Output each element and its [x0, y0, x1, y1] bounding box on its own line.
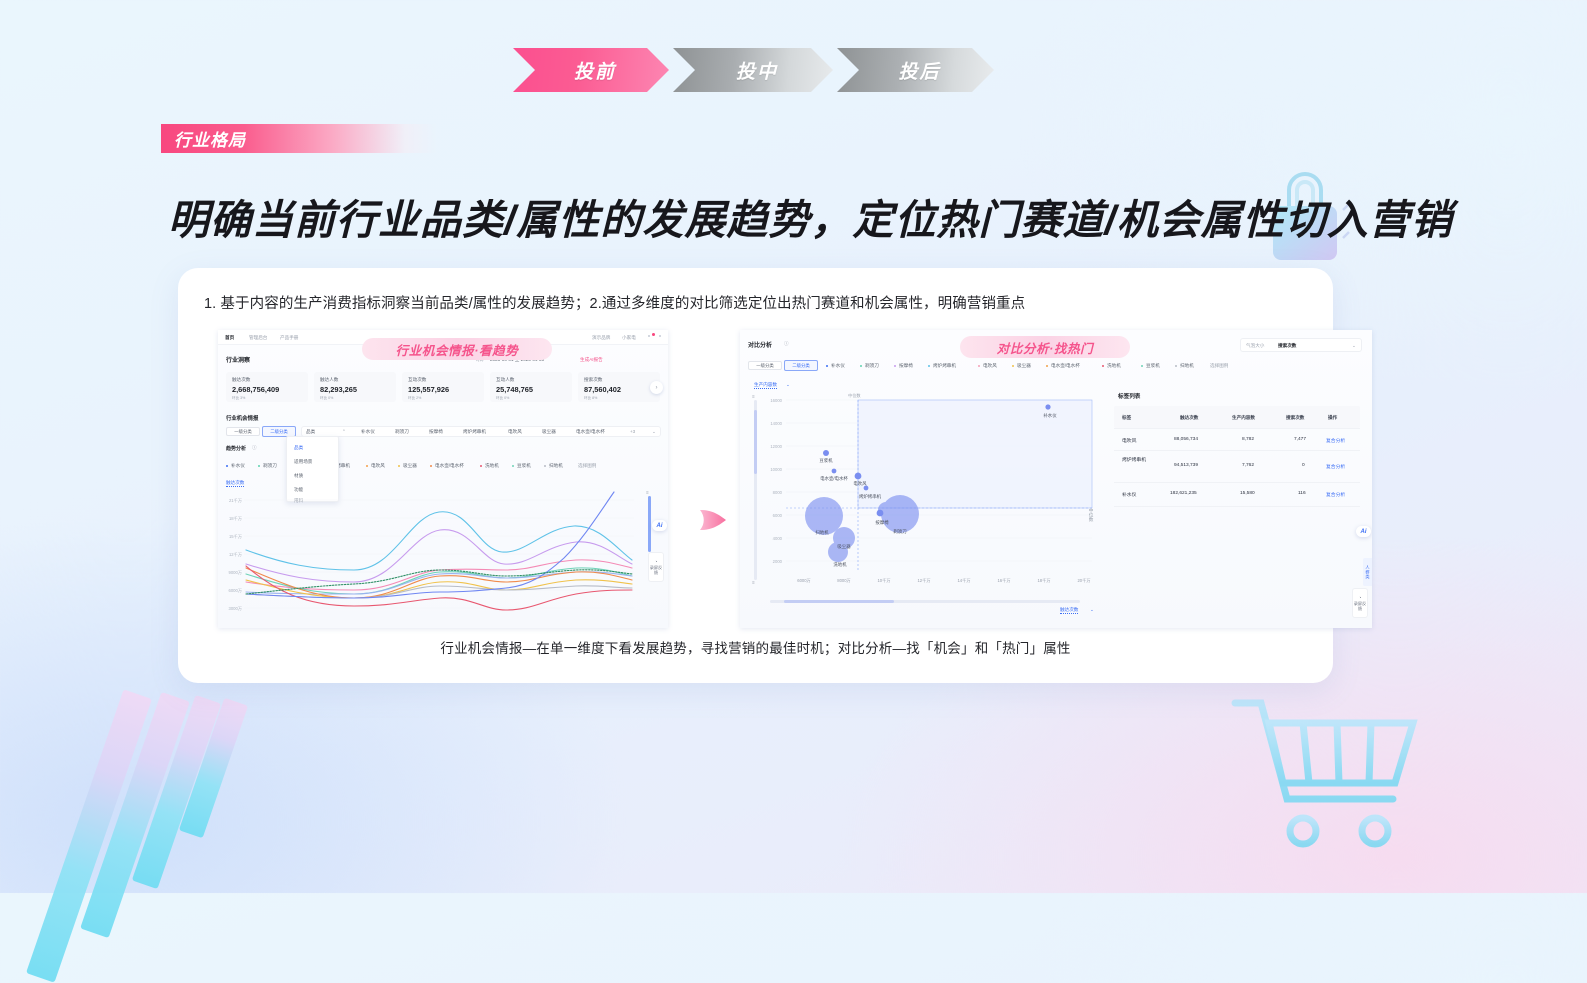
table-header-cell: 搜索次数 — [1286, 415, 1304, 421]
metric-value: 82,293,265 — [320, 385, 357, 394]
tag-chip[interactable]: 剃须刀 — [395, 429, 409, 435]
legend-label[interactable]: 电水壶/电水杯 — [435, 463, 464, 469]
side-button-label: 录屏反馈 — [1353, 601, 1367, 612]
legend-label[interactable]: 剃须刀 — [263, 463, 277, 469]
metric-delta: 环比 2% — [408, 396, 421, 401]
legend-select-button[interactable]: 选择图例 — [578, 463, 596, 469]
cell-tag: 烤炉烤串机 — [1122, 458, 1146, 464]
cell-tag: 电吹风 — [1122, 437, 1136, 444]
metric-label: 触达次数 — [232, 377, 250, 383]
svg-text:豆浆机: 豆浆机 — [819, 457, 833, 464]
stage-breadcrumb: 投前 投中 投后 — [513, 48, 994, 92]
step-label: 投前 — [540, 57, 642, 84]
tag-chip[interactable]: 电吹风 — [508, 429, 522, 435]
trend-line-chart — [244, 490, 634, 625]
notification-badge — [652, 333, 655, 336]
chevron-down-icon[interactable]: ⌄ — [786, 382, 790, 388]
ribbon-right: 对比分析·找热门 — [960, 336, 1130, 358]
screen-record-feedback-button[interactable]: ◔ 录屏反馈 — [1352, 588, 1368, 618]
metric-delta: 环比 3% — [232, 396, 245, 401]
legend-label[interactable]: 吸尘器 — [1017, 363, 1031, 369]
generate-report-button[interactable]: 生成AI报告 — [580, 357, 603, 363]
table-header-cell: 标签 — [1122, 415, 1131, 421]
svg-text:补水仪: 补水仪 — [1043, 412, 1057, 419]
legend-label[interactable]: 扫地机 — [549, 463, 563, 469]
y-tick-label: 3000万 — [220, 606, 242, 612]
cell-content: 15,580 — [1240, 491, 1255, 496]
svg-text:剃须刀: 剃须刀 — [893, 528, 906, 535]
screenshot-industry-trend: 首页 管理后台 产品手册 演示品牌 小家电 行业洞察 时间: 2025-04-0… — [218, 330, 668, 628]
audience-category-tab[interactable]: 人群类 — [1363, 558, 1372, 586]
metric-select[interactable]: 触达次数 — [226, 480, 244, 487]
legend-label[interactable]: 烤炉烤串机 — [933, 363, 956, 369]
svg-text:18千万: 18千万 — [1037, 577, 1050, 584]
median-label-vertical: 中位数 — [1088, 508, 1094, 522]
svg-text:16000: 16000 — [770, 398, 782, 403]
tag-table: 标签 触达次数 生产内容数 搜索次数 操作 电吹风 88,056,734 8,7… — [1114, 406, 1360, 526]
decorative-bars — [62, 686, 292, 866]
clock-icon: ◔ — [655, 559, 658, 564]
table-title: 标签列表 — [1118, 392, 1140, 400]
step-label: 投中 — [702, 57, 804, 84]
svg-text:洗地机: 洗地机 — [833, 561, 847, 568]
tag-overflow-count[interactable]: +3 — [630, 429, 635, 434]
info-icon[interactable]: ⓘ — [252, 445, 257, 451]
y-tick-label: 12千万 — [220, 552, 242, 558]
metric-label: 搜索次数 — [584, 377, 602, 383]
legend-label[interactable]: 电吹风 — [371, 463, 385, 469]
svg-text:14千万: 14千万 — [957, 577, 970, 584]
legend-label[interactable]: 补水仪 — [231, 463, 245, 469]
chart-horizontal-scroll-thumb[interactable] — [784, 600, 894, 603]
legend-label[interactable]: 洗地机 — [1107, 363, 1121, 369]
svg-text:12千万: 12千万 — [917, 577, 930, 584]
block-title: 行业机会情报 — [226, 414, 258, 422]
cell-reach: 182,621,235 — [1170, 491, 1197, 496]
metrics-next-button[interactable]: › — [650, 381, 663, 394]
clock-icon: ◔ — [1359, 595, 1362, 600]
chart-vertical-scroll-thumb[interactable] — [754, 410, 757, 474]
metric-label: 互动次数 — [408, 377, 426, 383]
lede-text: 1. 基于内容的生产消费指标洞察当前品类/属性的发展趋势；2.通过多维度的对比筛… — [204, 292, 1025, 313]
legend-select-button[interactable]: 选择图例 — [1210, 363, 1228, 369]
account-brand[interactable]: 演示品牌 — [592, 335, 610, 341]
table-header-cell: 触达次数 — [1180, 415, 1198, 421]
metric-value: 125,557,926 — [408, 385, 449, 394]
svg-text:16千万: 16千万 — [997, 577, 1010, 584]
cell-action-link[interactable]: 复合分析 — [1326, 491, 1345, 498]
ribbon-right-label: 对比分析·找热门 — [997, 338, 1093, 357]
chevron-up-icon[interactable]: ⌃ — [342, 429, 346, 435]
bubble-size-value: 搜索次数 — [1278, 343, 1296, 349]
shopping-cart-icon — [1217, 679, 1427, 859]
nav-item-admin[interactable]: 管理后台 — [249, 335, 267, 341]
tag-chip[interactable]: 补水仪 — [361, 429, 375, 435]
table-header-cell: 操作 — [1328, 415, 1337, 421]
tag-chip[interactable]: 按摩椅 — [429, 429, 443, 435]
metric-delta: 环比 0% — [496, 396, 509, 401]
section-tag: 行业格局 — [161, 124, 438, 153]
svg-text:12000: 12000 — [770, 444, 782, 449]
legend-label[interactable]: 按摩椅 — [899, 363, 913, 369]
legend-label[interactable]: 洗地机 — [485, 463, 499, 469]
cell-reach: 88,056,734 — [1174, 437, 1198, 442]
ribbon-left: 行业机会情报·看趋势 — [362, 338, 552, 360]
legend-label[interactable]: 剃须刀 — [865, 363, 879, 369]
vertical-scrollbar[interactable] — [648, 496, 651, 552]
y-tick-label: 18千万 — [220, 516, 242, 522]
svg-text:14000: 14000 — [770, 421, 782, 426]
cell-action-link[interactable]: 复合分析 — [1326, 463, 1345, 470]
bubble-scatter-chart: 补水仪 豆浆机 电水壶/电水杯 电吹风 烤炉烤串机 按摩椅 剃须刀 扫地机 吸尘… — [748, 390, 1096, 600]
y-tick-label: 6000万 — [220, 588, 242, 594]
metric-label: 互动人数 — [496, 377, 514, 383]
legend-label[interactable]: 扫地机 — [1180, 363, 1194, 369]
dropdown-item-material[interactable]: 材质 — [294, 473, 303, 479]
svg-text:吸尘器: 吸尘器 — [837, 543, 851, 550]
nav-item-home[interactable]: 首页 — [225, 335, 234, 341]
screen-record-feedback-button[interactable]: ◔ 录屏反馈 — [648, 552, 664, 582]
step-mid-campaign[interactable]: 投中 — [673, 48, 833, 92]
nav-item-manual[interactable]: 产品手册 — [280, 335, 298, 341]
svg-text:2000: 2000 — [773, 559, 783, 564]
panel-title: 对比分析 — [748, 340, 772, 349]
x-axis-select[interactable]: 触达次数 — [1060, 607, 1078, 614]
tag-chip[interactable]: 烤炉烤串机 — [463, 429, 486, 435]
svg-text:扫地机: 扫地机 — [815, 529, 829, 536]
metric-label: 触达人数 — [320, 377, 338, 383]
svg-text:10000: 10000 — [770, 467, 782, 472]
ai-assistant-badge[interactable]: Ai — [1356, 526, 1371, 537]
svg-text:20千万: 20千万 — [1077, 577, 1090, 584]
drag-handle-icon[interactable]: ≡ — [752, 580, 755, 585]
svg-text:烤炉烤串机: 烤炉烤串机 — [859, 493, 882, 500]
svg-text:中位数: 中位数 — [848, 392, 861, 399]
dimension-select-value[interactable]: 品类 — [306, 429, 315, 435]
page-title: 明确当前行业品类/属性的发展趋势，定位热门赛道/机会属性切入营销 — [168, 192, 1458, 248]
legend-label[interactable]: 补水仪 — [831, 363, 845, 369]
section-tag-label: 行业格局 — [161, 126, 246, 151]
arrow-right-icon — [692, 498, 736, 542]
screenshot-comparison-analysis: 对比分析 ⓘ 气泡大小 搜索次数 ⌄ 一级分类 二级分类 补水仪 剃须刀 按摩椅… — [740, 330, 1372, 628]
tag-chip[interactable]: 吸尘器 — [542, 429, 556, 435]
svg-text:按摩椅: 按摩椅 — [875, 519, 889, 526]
svg-text:4000: 4000 — [773, 536, 783, 541]
tab-level2[interactable]: 二级分类 — [784, 360, 818, 371]
legend-label[interactable]: 豆浆机 — [1146, 363, 1160, 369]
metric-delta: 环比 0% — [320, 396, 333, 401]
dropdown-item-category[interactable]: 品类 — [294, 445, 303, 451]
step-post-campaign[interactable]: 投后 — [837, 48, 994, 92]
y-tick-label: 21千万 — [220, 498, 242, 504]
svg-text:电水壶/电水杯: 电水壶/电水杯 — [820, 475, 848, 482]
metric-value: 2,668,756,409 — [232, 385, 279, 394]
legend-label[interactable]: 电水壶/电水杯 — [1051, 363, 1080, 369]
figure-caption: 行业机会情报—在单一维度下看发展趋势，寻找营销的最佳时机；对比分析—找「机会」和… — [178, 637, 1333, 657]
cell-content: 7,762 — [1242, 463, 1254, 468]
dropdown-item-scene[interactable]: 适用场景 — [294, 459, 312, 465]
svg-text:电吹风: 电吹风 — [853, 480, 867, 487]
table-header-cell: 生产内容数 — [1232, 415, 1255, 421]
chevron-down-icon[interactable]: ⌄ — [1090, 607, 1094, 613]
page-heading: 行业洞察 — [226, 355, 250, 364]
metric-value: 87,560,402 — [584, 385, 621, 394]
step-pre-campaign[interactable]: 投前 — [513, 48, 669, 92]
svg-text:6000万: 6000万 — [797, 578, 811, 584]
legend-label[interactable]: 豆浆机 — [517, 463, 531, 469]
cell-reach: 94,513,739 — [1174, 463, 1198, 468]
metric-value: 25,748,765 — [496, 385, 533, 394]
chevron-down-icon[interactable]: ⌄ — [1352, 343, 1356, 349]
drag-handle-icon[interactable]: ≡ — [752, 394, 755, 399]
bubble-size-label: 气泡大小 — [1246, 343, 1264, 349]
trend-title: 趋势分析 — [226, 445, 246, 452]
drag-handle-icon[interactable]: ≡ — [646, 490, 649, 495]
y-axis-select[interactable]: 生产内容数 — [754, 382, 777, 389]
tag-chip[interactable]: 电水壶/电水杯 — [576, 429, 605, 435]
legend-label[interactable]: 电吹风 — [983, 363, 997, 369]
svg-text:10千万: 10千万 — [877, 577, 890, 584]
ribbon-left-label: 行业机会情报·看趋势 — [396, 340, 519, 359]
ai-assistant-badge[interactable]: Ai — [652, 520, 667, 531]
info-icon[interactable]: ⓘ — [784, 341, 789, 347]
cell-tag: 补水仪 — [1122, 491, 1136, 498]
step-label: 投后 — [864, 57, 966, 84]
cell-content: 8,782 — [1242, 437, 1254, 442]
cell-search: 0 — [1302, 463, 1305, 468]
legend-label[interactable]: 吸尘器 — [403, 463, 417, 469]
svg-text:6000: 6000 — [773, 513, 783, 518]
svg-text:8000: 8000 — [773, 490, 783, 495]
cell-search: 116 — [1298, 491, 1306, 496]
metric-delta: 环比 8% — [584, 396, 597, 401]
y-tick-label: 9000万 — [220, 570, 242, 576]
cell-search: 7,477 — [1294, 437, 1306, 442]
cell-action-link[interactable]: 复合分析 — [1326, 437, 1345, 444]
tab-level1[interactable]: 一级分类 — [748, 361, 782, 370]
svg-text:8000万: 8000万 — [837, 578, 851, 584]
tab-level1[interactable]: 一级分类 — [226, 427, 260, 436]
chevron-down-icon[interactable]: ⌄ — [652, 429, 656, 435]
account-category[interactable]: 小家电 — [622, 335, 636, 341]
y-tick-label: 15千万 — [220, 534, 242, 540]
side-button-label: 录屏反馈 — [649, 565, 663, 576]
